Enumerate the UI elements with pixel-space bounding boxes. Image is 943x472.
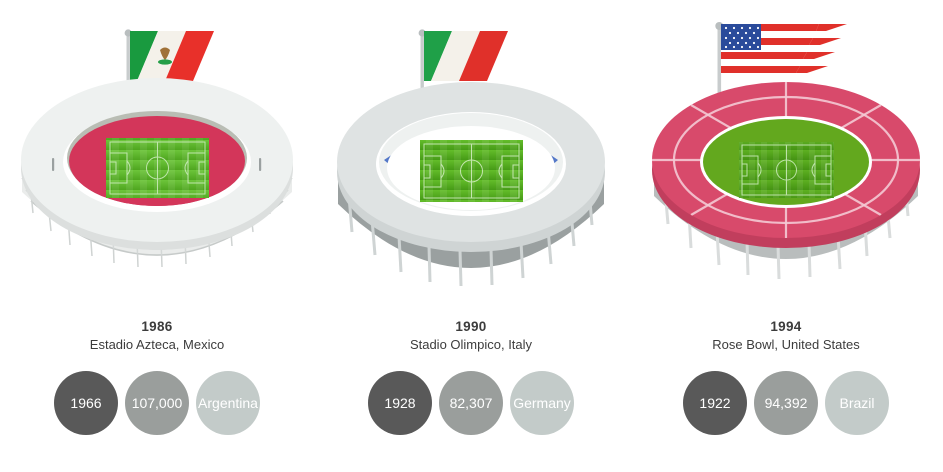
panel-venue: Stadio Olimpico, Italy	[314, 336, 628, 354]
rose-bowl-stadium-icon	[629, 0, 943, 310]
stat-circle-winner[interactable]: Germany	[510, 371, 574, 435]
stat-circle-winner[interactable]: Brazil	[825, 371, 889, 435]
stat-circle-capacity[interactable]: 82,307	[439, 371, 503, 435]
stat-circle-group: 1966 107,000 Argentina	[0, 371, 314, 441]
stat-circle-year-founded[interactable]: 1928	[368, 371, 432, 435]
stadium-panel-1990: 1990 Stadio Olimpico, Italy 1928 82,307 …	[314, 0, 628, 472]
stadium-panel-1986: 1986 Estadio Azteca, Mexico 1966 107,000…	[0, 0, 314, 472]
panel-venue: Rose Bowl, United States	[629, 336, 943, 354]
estadio-azteca-stadium-icon	[0, 0, 314, 310]
panel-caption: 1986 Estadio Azteca, Mexico	[0, 318, 314, 354]
stat-circle-winner[interactable]: Argentina	[196, 371, 260, 435]
stat-circle-capacity[interactable]: 107,000	[125, 371, 189, 435]
stat-circle-year-founded[interactable]: 1966	[54, 371, 118, 435]
stadium-panel-1994: 1994 Rose Bowl, United States 1922 94,39…	[629, 0, 943, 472]
panel-caption: 1990 Stadio Olimpico, Italy	[314, 318, 628, 354]
infographic-board: 1986 Estadio Azteca, Mexico 1966 107,000…	[0, 0, 943, 472]
stat-circle-year-founded[interactable]: 1922	[683, 371, 747, 435]
panel-year: 1994	[629, 318, 943, 335]
panel-year: 1990	[314, 318, 628, 335]
panel-year: 1986	[0, 318, 314, 335]
stat-circle-group: 1922 94,392 Brazil	[629, 371, 943, 441]
stat-circle-capacity[interactable]: 94,392	[754, 371, 818, 435]
stat-circle-group: 1928 82,307 Germany	[314, 371, 628, 441]
panel-venue: Estadio Azteca, Mexico	[0, 336, 314, 354]
panel-caption: 1994 Rose Bowl, United States	[629, 318, 943, 354]
stadio-olimpico-stadium-icon	[314, 0, 628, 310]
